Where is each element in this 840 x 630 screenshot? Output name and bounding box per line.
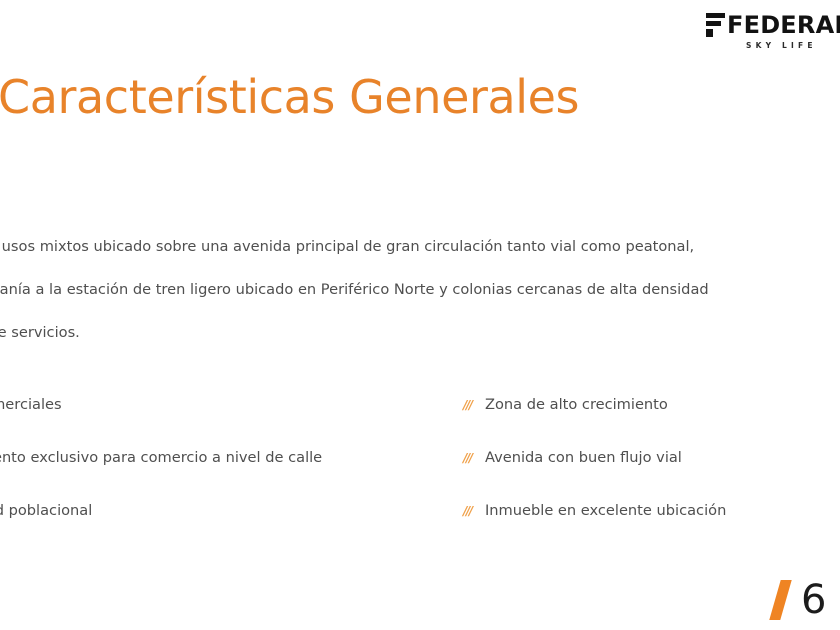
- brand-tagline: SKY LIFE: [706, 41, 840, 50]
- slide-canvas: FEDERAL SKY LIFE Características General…: [0, 0, 840, 630]
- list-item-label: Inmueble en excelente ubicación: [485, 502, 726, 520]
- page-title: Características Generales: [0, 68, 579, 126]
- slashes-bullet-icon: ///: [463, 397, 485, 413]
- list-item: /// Estacionamiento exclusivo para comer…: [0, 449, 322, 502]
- feature-list-right: /// Zona de alto crecimiento /// Avenida…: [463, 396, 726, 555]
- list-item-label: Alta densidad poblacional: [0, 502, 92, 520]
- list-item-label: Estacionamiento exclusivo para comercio …: [0, 449, 322, 467]
- list-item-label: Avenida con buen flujo vial: [485, 449, 682, 467]
- brand-logo-wordmark: FEDERAL: [706, 13, 840, 37]
- stylized-f-icon: [706, 13, 725, 37]
- brand-logo: FEDERAL SKY LIFE: [706, 13, 840, 50]
- list-item-label: 2 niveles comerciales: [0, 396, 62, 414]
- list-item: /// Zona de alto crecimiento: [463, 396, 726, 449]
- feature-columns: /// 2 niveles comerciales /// Estacionam…: [0, 396, 840, 546]
- page-number-value: 6: [801, 578, 826, 622]
- slashes-bullet-icon: ///: [463, 450, 485, 466]
- list-item: /// Inmueble en excelente ubicación: [463, 502, 726, 555]
- body-paragraph: Desarrollo de usos mixtos ubicado sobre …: [0, 225, 830, 354]
- paragraph-line: con gran cercanía a la estación de tren …: [0, 268, 830, 311]
- slashes-bullet-icon: ///: [463, 503, 485, 519]
- list-item: /// Avenida con buen flujo vial: [463, 449, 726, 502]
- slash-accent-icon: [769, 580, 791, 620]
- paragraph-line: y con cerca de servicios.: [0, 311, 830, 354]
- list-item-label: Zona de alto crecimiento: [485, 396, 668, 414]
- paragraph-line: Desarrollo de usos mixtos ubicado sobre …: [0, 225, 830, 268]
- feature-list-left: /// 2 niveles comerciales /// Estacionam…: [0, 396, 322, 555]
- brand-name: FEDERAL: [727, 13, 840, 37]
- page-number: 6: [775, 575, 826, 625]
- list-item: /// 2 niveles comerciales: [0, 396, 322, 449]
- list-item: /// Alta densidad poblacional: [0, 502, 322, 555]
